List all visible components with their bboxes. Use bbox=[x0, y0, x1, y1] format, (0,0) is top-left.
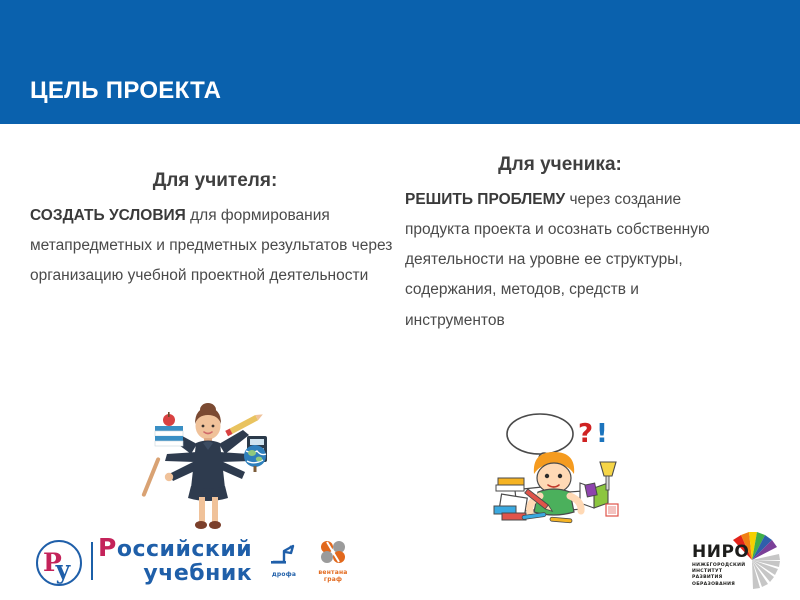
imprint-ventana-caption: вентана bbox=[310, 569, 356, 576]
svg-text:у: у bbox=[55, 555, 71, 584]
column-pupil-rest: через создание продукта проекта и осозна… bbox=[405, 191, 710, 329]
column-teacher-lead: СОЗДАТЬ УСЛОВИЯ bbox=[30, 207, 186, 224]
imprint-graf-caption: граф bbox=[310, 576, 356, 583]
pupil-studying-illustration: ? ! bbox=[482, 410, 634, 532]
publisher-logo-divider bbox=[91, 542, 93, 580]
publisher-wordmark-line2: учебник bbox=[98, 562, 252, 586]
content-columns: Для учителя: СОЗДАТЬ УСЛОВИЯ для формиро… bbox=[0, 124, 800, 524]
publisher-wordmark-line1: оссийский bbox=[117, 537, 252, 562]
page-title: ЦЕЛЬ ПРОЕКТА bbox=[30, 79, 221, 103]
column-pupil-heading: Для ученика: bbox=[405, 154, 715, 177]
column-teacher-heading: Для учителя: bbox=[30, 170, 400, 193]
imprint-drofa-caption: дрофа bbox=[262, 571, 306, 578]
svg-text:?: ? bbox=[578, 419, 593, 449]
slide-canvas: ЦЕЛЬ ПРОЕКТА Для учителя: СОЗДАТЬ УСЛОВИ… bbox=[0, 0, 800, 600]
publisher-logo: Р у Российский учебник дрофа bbox=[34, 534, 324, 592]
publisher-emblem-icon: Р у bbox=[34, 538, 84, 593]
column-teacher: Для учителя: СОЗДАТЬ УСЛОВИЯ для формиро… bbox=[30, 124, 400, 291]
publisher-wordmark: Российский учебник bbox=[98, 536, 252, 586]
institute-logo: НИРО НИЖЕГОРОДСКИЙ ИНСТИТУТ РАЗВИТИЯ ОБР… bbox=[690, 530, 790, 592]
institute-acronym: НИРО bbox=[692, 544, 749, 561]
institute-logo-text: НИРО НИЖЕГОРОДСКИЙ ИНСТИТУТ РАЗВИТИЯ ОБР… bbox=[692, 544, 749, 588]
publisher-wordmark-cap: Р bbox=[98, 533, 117, 562]
column-pupil-lead: РЕШИТЬ ПРОБЛЕМУ bbox=[405, 191, 565, 208]
column-pupil: Для ученика: РЕШИТЬ ПРОБЛЕМУ через созда… bbox=[405, 124, 715, 336]
column-teacher-body: СОЗДАТЬ УСЛОВИЯ для формирования метапре… bbox=[30, 201, 400, 292]
institute-fullname: НИЖЕГОРОДСКИЙ ИНСТИТУТ РАЗВИТИЯ ОБРАЗОВА… bbox=[692, 563, 749, 588]
svg-text:!: ! bbox=[596, 419, 608, 449]
imprint-drofa-logo: дрофа bbox=[262, 542, 306, 578]
column-pupil-body: РЕШИТЬ ПРОБЛЕМУ через создание продукта … bbox=[405, 185, 715, 336]
multitasking-teacher-illustration bbox=[133, 396, 283, 534]
institute-fullname-line-4: ОБРАЗОВАНИЯ bbox=[692, 582, 749, 588]
header-band bbox=[0, 0, 800, 124]
imprint-ventana-graf-logo: вентана граф bbox=[310, 540, 356, 583]
